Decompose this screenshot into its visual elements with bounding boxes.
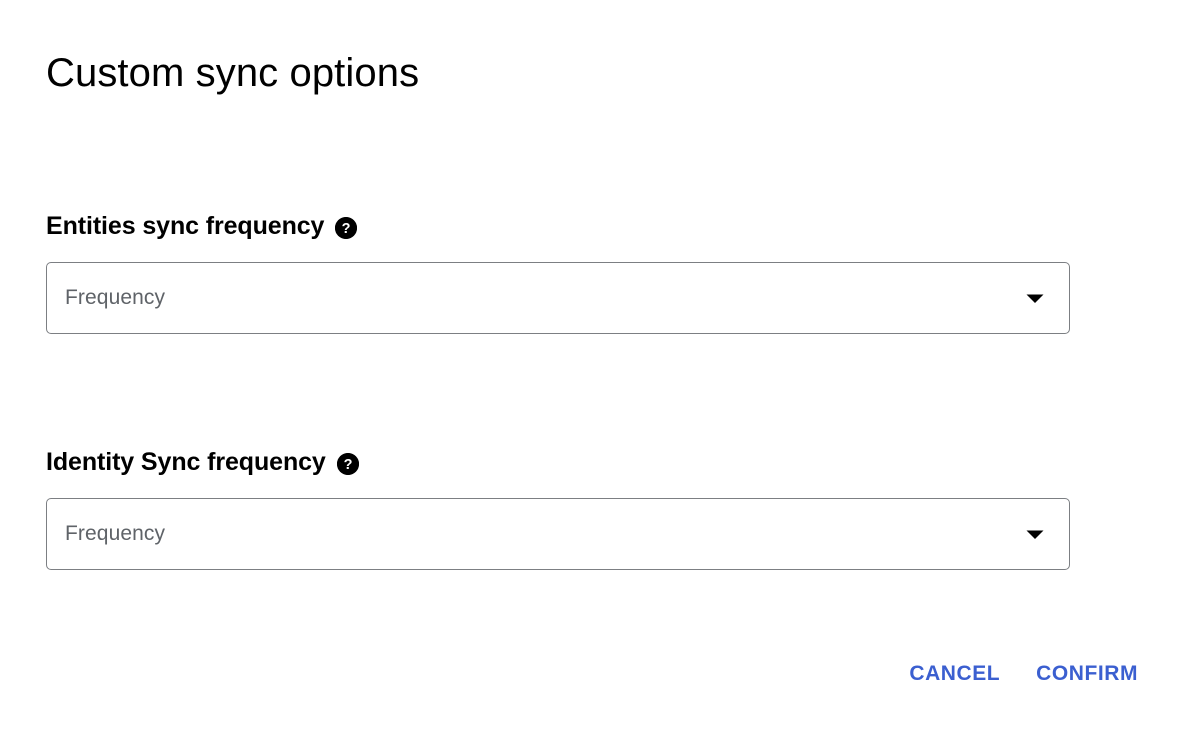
confirm-button[interactable]: CONFIRM [1028, 655, 1146, 693]
field-entities-sync-frequency: Entities sync frequency ? Frequency [46, 209, 1070, 334]
svg-text:?: ? [343, 457, 352, 473]
custom-sync-options-dialog: Custom sync options Entities sync freque… [0, 0, 1196, 741]
field-label: Identity Sync frequency [46, 445, 326, 479]
svg-text:?: ? [342, 221, 351, 237]
entities-sync-frequency-select[interactable]: Frequency [46, 262, 1070, 334]
field-label-row: Entities sync frequency ? [46, 209, 1070, 243]
chevron-down-icon[interactable] [1025, 288, 1045, 308]
dialog-actions: CANCEL CONFIRM [901, 655, 1146, 693]
select-placeholder-text: Frequency [47, 286, 165, 310]
help-circle-icon[interactable]: ? [337, 453, 359, 475]
field-label-row: Identity Sync frequency ? [46, 445, 1070, 479]
help-circle-icon[interactable]: ? [335, 217, 357, 239]
identity-sync-frequency-select[interactable]: Frequency [46, 498, 1070, 570]
select-placeholder-text: Frequency [47, 522, 165, 546]
field-identity-sync-frequency: Identity Sync frequency ? Frequency [46, 445, 1070, 570]
page-title: Custom sync options [46, 49, 419, 97]
field-label: Entities sync frequency [46, 209, 324, 243]
cancel-button[interactable]: CANCEL [901, 655, 1008, 693]
chevron-down-icon[interactable] [1025, 524, 1045, 544]
